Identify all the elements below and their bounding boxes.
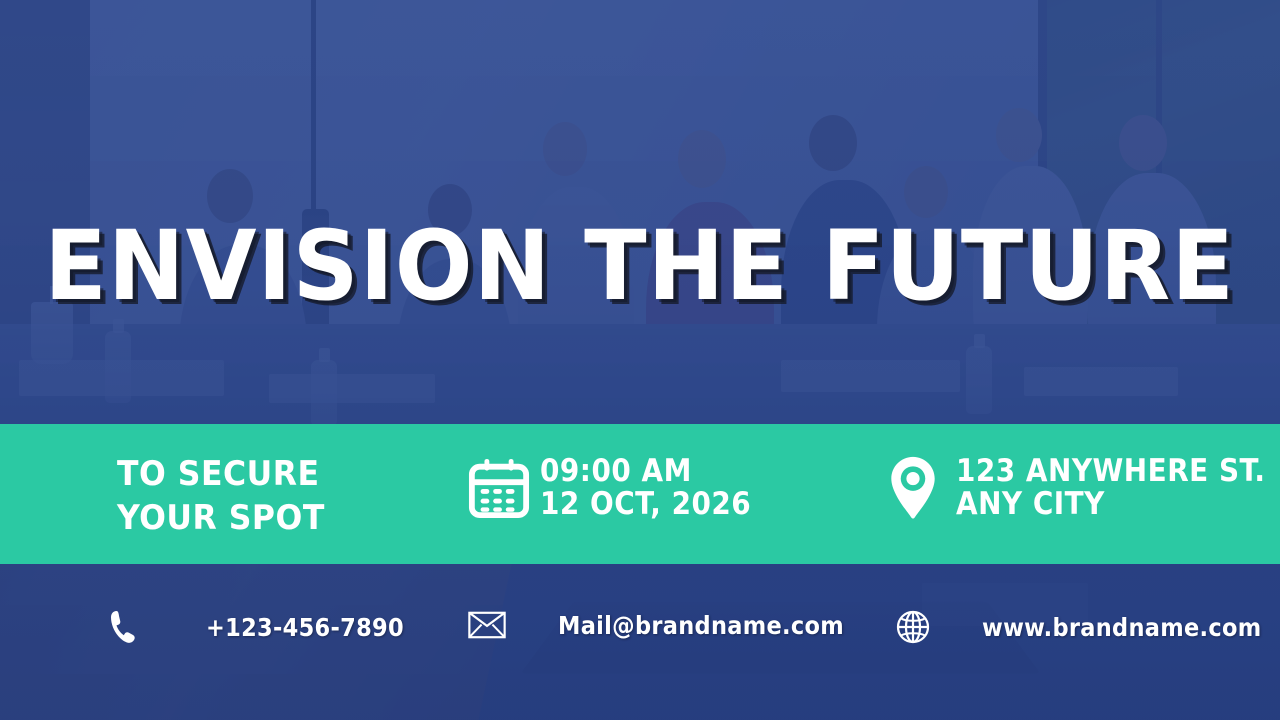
calendar-icon: [468, 457, 540, 519]
location-block: 123 ANYWHERE ST. ANY CITY: [884, 455, 1265, 521]
phone-icon: [104, 610, 142, 644]
event-banner: ENVISION THE FUTURE TO SECURE YOUR SPOT: [0, 0, 1280, 720]
datetime-text: 09:00 AM 12 OCT, 2026: [540, 455, 751, 521]
datetime-block: 09:00 AM 12 OCT, 2026: [468, 455, 751, 521]
cta-text: TO SECURE YOUR SPOT: [117, 452, 325, 540]
map-pin-icon: [884, 455, 956, 521]
envelope-icon: [468, 610, 506, 640]
headline-text: ENVISION THE FUTURE: [45, 222, 1236, 310]
email-address: Mail@brandname.com: [558, 611, 844, 640]
website-url: www.brandname.com: [982, 613, 1262, 642]
cta-line-2: YOUR SPOT: [117, 496, 325, 540]
cta-line-1: TO SECURE: [117, 452, 325, 496]
contact-phone[interactable]: +123-456-7890: [104, 610, 404, 644]
location-text: 123 ANYWHERE ST. ANY CITY: [956, 455, 1265, 521]
location-line-1: 123 ANYWHERE ST.: [956, 455, 1265, 488]
location-line-2: ANY CITY: [956, 488, 1265, 521]
contact-website[interactable]: www.brandname.com: [894, 610, 1262, 644]
headline-container: ENVISION THE FUTURE: [0, 222, 1280, 310]
event-date: 12 OCT, 2026: [540, 488, 751, 521]
phone-number: +123-456-7890: [206, 613, 404, 642]
event-time: 09:00 AM: [540, 455, 751, 488]
globe-icon: [894, 610, 932, 644]
contact-email[interactable]: Mail@brandname.com: [468, 610, 844, 640]
